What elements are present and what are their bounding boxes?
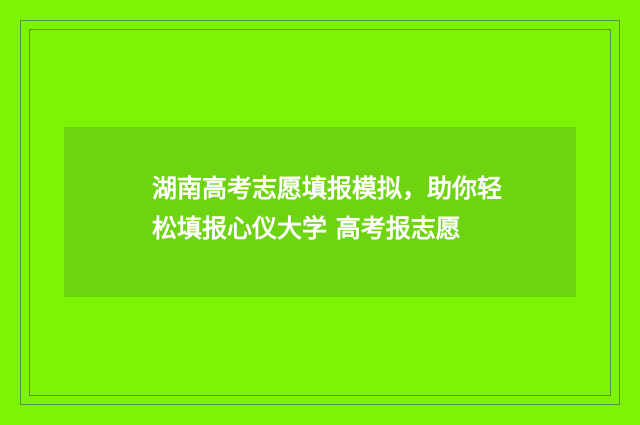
banner-root: 湖南高考志愿填报模拟，助你轻松填报心仪大学 高考报志愿 xyxy=(0,0,640,425)
headline-text: 湖南高考志愿填报模拟，助你轻松填报心仪大学 高考报志愿 xyxy=(152,169,512,249)
content-panel: 湖南高考志愿填报模拟，助你轻松填报心仪大学 高考报志愿 xyxy=(64,127,576,297)
